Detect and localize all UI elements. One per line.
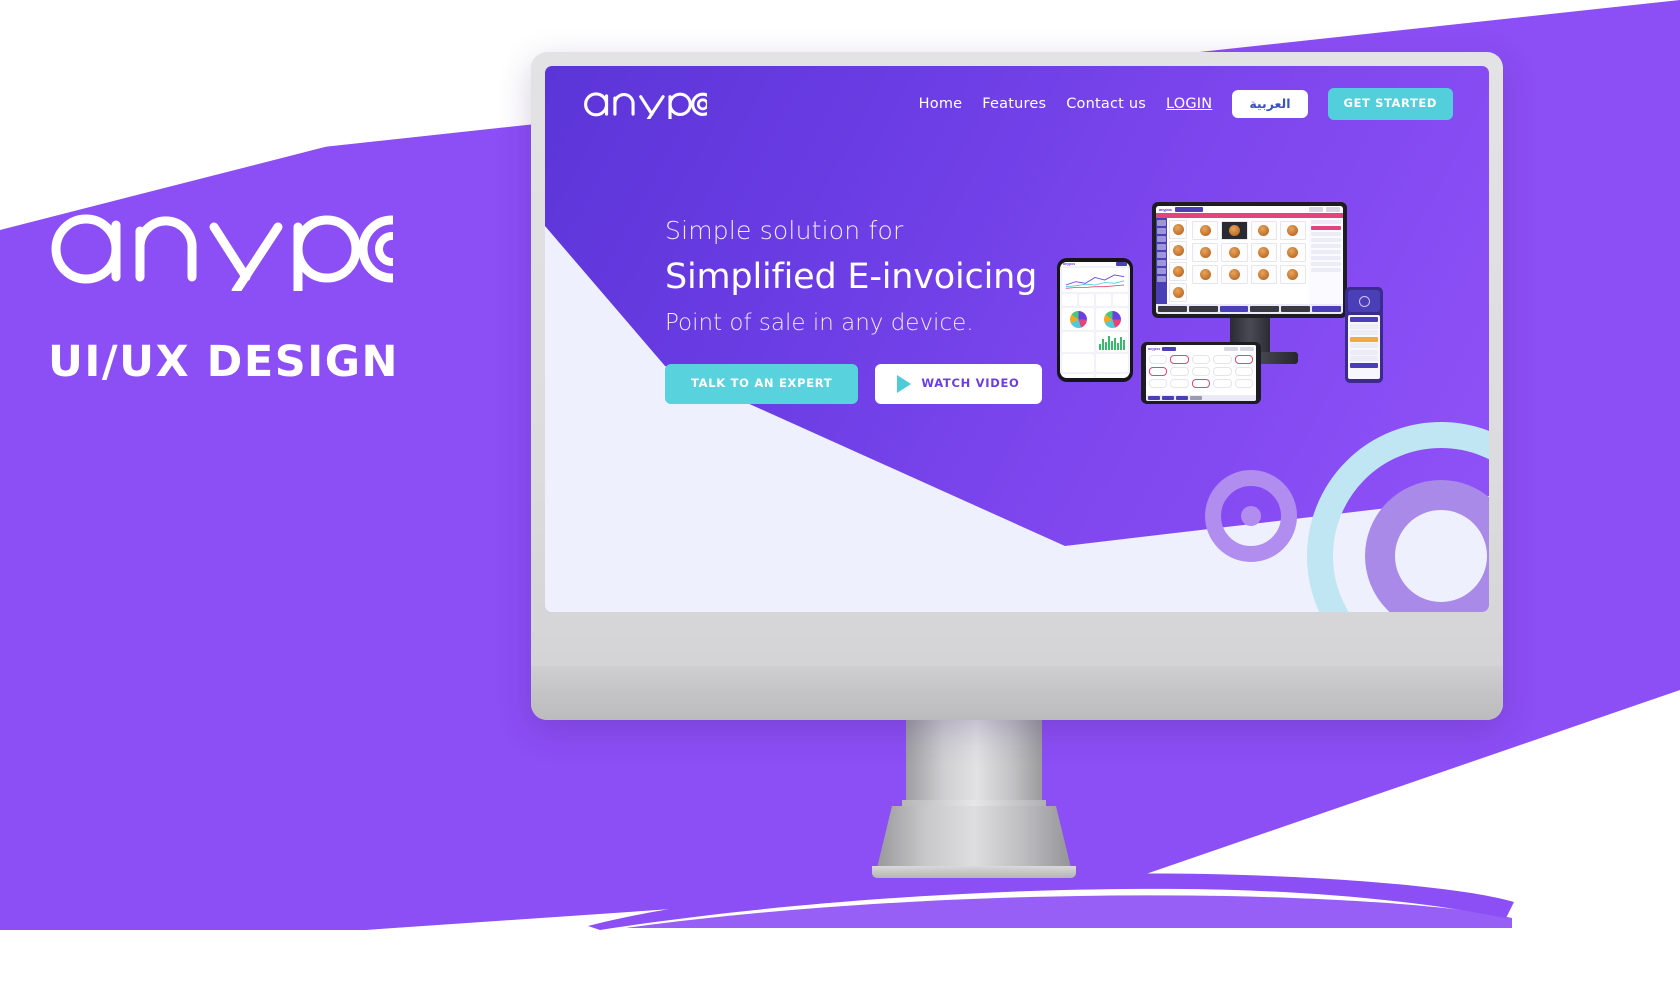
phone-bar-chart [1099, 334, 1125, 350]
phone-dashboard [1060, 266, 1130, 378]
pos-logo-label: anypos [1159, 207, 1172, 212]
nav-features[interactable]: Features [982, 96, 1046, 112]
monitor-neck [906, 718, 1042, 802]
pos-category-column [1167, 218, 1189, 304]
phone-pie-chart-2 [1104, 311, 1121, 328]
pos-sidebar-rail [1156, 218, 1167, 304]
get-started-button[interactable]: GET STARTED [1328, 88, 1453, 120]
monitor-foot-base [872, 866, 1076, 878]
phone-pie-chart-1 [1070, 311, 1087, 328]
canvas-bottom-margin [0, 930, 1680, 1000]
play-icon [897, 375, 911, 393]
brand-block: UI/UX DESIGN [48, 205, 399, 387]
anypos-logo-large [48, 205, 399, 291]
monitor-screen: Home Features Contact us LOGIN العربية G… [545, 66, 1489, 612]
monitor-chin [531, 666, 1503, 720]
device-pos-terminal: anypos [1152, 202, 1347, 364]
hero-eyebrow: Simple solution for [665, 216, 1085, 245]
language-toggle-button[interactable]: العربية [1232, 90, 1307, 119]
hero-button-row: TALK TO AN EXPERT WATCH VIDEO [665, 364, 1085, 404]
watch-video-label: WATCH VIDEO [921, 378, 1019, 390]
card-reader-scanner [1348, 290, 1380, 312]
decorative-ring-small-dot [1241, 506, 1261, 526]
site-navbar: Home Features Contact us LOGIN العربية G… [545, 66, 1489, 142]
hero-headline: Simplified E-invoicing [665, 257, 1085, 297]
nav-contact-us[interactable]: Contact us [1066, 96, 1146, 112]
anypos-logo-nav[interactable] [579, 89, 707, 119]
monitor-neck-joint [902, 800, 1046, 806]
hero-subline: Point of sale in any device. [665, 310, 1085, 336]
monitor-foot [876, 806, 1072, 872]
tablet-action-bar [1146, 395, 1256, 401]
talk-to-expert-button[interactable]: TALK TO AN EXPERT [665, 364, 858, 404]
tablet-table-layout [1146, 352, 1256, 395]
hero-copy: Simple solution for Simplified E-invoici… [665, 216, 1085, 404]
nav-home[interactable]: Home [919, 96, 963, 112]
device-mockup-cluster: anypos [1057, 202, 1477, 502]
tablet-logo-label: anypos [1148, 347, 1160, 351]
poster-subtitle: UI/UX DESIGN [48, 337, 399, 387]
device-card-reader [1345, 287, 1383, 383]
device-tablet: anypos [1141, 342, 1261, 404]
device-smartphone: anypos [1057, 258, 1133, 382]
pos-product-grid [1189, 218, 1309, 304]
monitor-bezel: Home Features Contact us LOGIN العربية G… [531, 52, 1503, 720]
scanner-icon [1359, 296, 1370, 307]
card-reader-screen [1348, 315, 1380, 379]
nav-login[interactable]: LOGIN [1166, 96, 1212, 112]
poster-canvas: UI/UX DESIGN [0, 0, 1680, 1000]
pos-order-panel [1309, 218, 1343, 304]
pos-action-bar [1156, 304, 1343, 314]
website-page: Home Features Contact us LOGIN العربية G… [545, 66, 1489, 612]
watch-video-button[interactable]: WATCH VIDEO [875, 364, 1041, 404]
navbar-actions: Home Features Contact us LOGIN العربية G… [919, 88, 1453, 120]
phone-line-chart [1062, 268, 1128, 292]
